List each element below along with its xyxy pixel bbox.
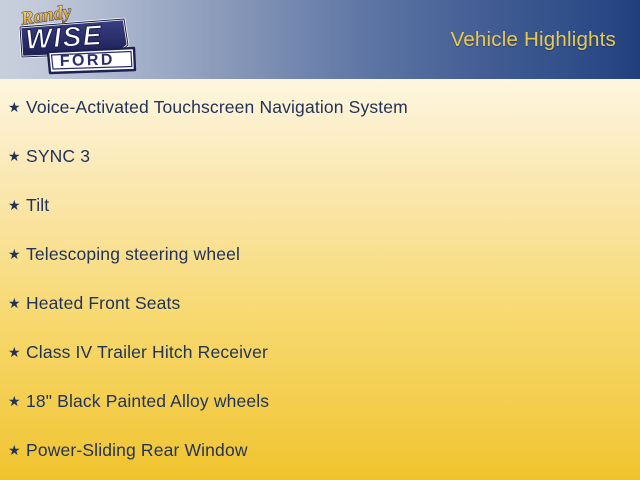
star-icon: ★ [8, 149, 26, 163]
list-item: ★ Heated Front Seats [8, 290, 180, 316]
vehicle-highlights-page: WISE FORD Randy Vehicle Highlights ★ Voi… [0, 0, 640, 480]
star-icon: ★ [8, 198, 26, 212]
vehicle-highlights-list: ★ Voice-Activated Touchscreen Navigation… [0, 79, 640, 480]
list-item: ★ SYNC 3 [8, 143, 90, 169]
list-item: ★ Class IV Trailer Hitch Receiver [8, 339, 268, 365]
star-icon: ★ [8, 247, 26, 261]
star-icon: ★ [8, 296, 26, 310]
star-icon: ★ [8, 345, 26, 359]
feature-label: Tilt [26, 195, 49, 216]
page-title: Vehicle Highlights [451, 28, 616, 52]
feature-label: Telescoping steering wheel [26, 244, 240, 265]
header-bar: WISE FORD Randy Vehicle Highlights [0, 0, 640, 79]
star-icon: ★ [8, 443, 26, 457]
randy-wise-ford-logo[interactable]: WISE FORD Randy [6, 1, 140, 79]
list-item: ★ Telescoping steering wheel [8, 241, 240, 267]
feature-label: 18" Black Painted Alloy wheels [26, 391, 269, 412]
feature-label: Voice-Activated Touchscreen Navigation S… [26, 97, 408, 118]
list-item: ★ 18" Black Painted Alloy wheels [8, 388, 269, 414]
feature-label: SYNC 3 [26, 146, 90, 167]
star-icon: ★ [8, 100, 26, 114]
feature-label: Class IV Trailer Hitch Receiver [26, 342, 268, 363]
feature-label: Power-Sliding Rear Window [26, 440, 248, 461]
list-item: ★ Power-Sliding Rear Window [8, 437, 248, 463]
list-item: ★ Tilt [8, 192, 49, 218]
list-item: ★ Voice-Activated Touchscreen Navigation… [8, 94, 408, 120]
star-icon: ★ [8, 394, 26, 408]
svg-text:FORD: FORD [60, 51, 115, 70]
feature-label: Heated Front Seats [26, 293, 180, 314]
